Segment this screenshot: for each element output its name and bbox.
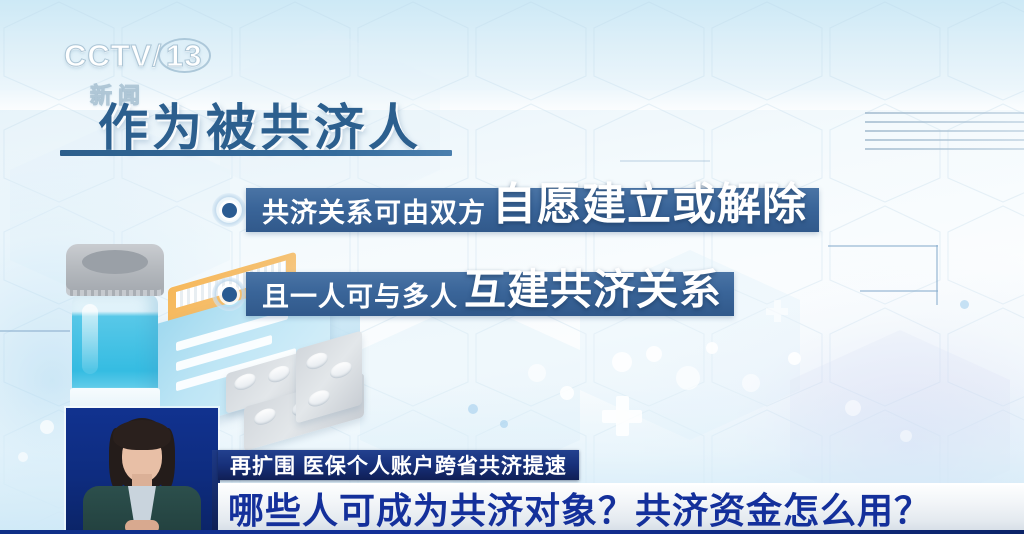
anchor-fringe bbox=[113, 420, 171, 450]
medical-cross-icon bbox=[602, 396, 642, 436]
bullet-bar: 且一人可与多人 互建共济关系 bbox=[246, 272, 734, 316]
bullet-point-2: 且一人可与多人 互建共济关系 bbox=[212, 272, 734, 316]
bokeh-dot bbox=[612, 352, 632, 372]
bokeh-dot bbox=[528, 364, 546, 382]
bullet-marker-icon bbox=[212, 277, 246, 311]
bullet-point-1: 共济关系可由双方 自愿建立或解除 bbox=[212, 188, 819, 232]
page-title-underline bbox=[60, 150, 452, 156]
bullet-emphasis-text: 自愿建立或解除 bbox=[492, 184, 807, 226]
circuit-wire bbox=[936, 245, 938, 305]
pill bbox=[254, 406, 276, 427]
bokeh-dot bbox=[706, 342, 718, 354]
bullet-emphasis-text: 互建共济关系 bbox=[464, 270, 722, 310]
lower-third-bottom-accent bbox=[0, 530, 1024, 534]
vial-cap bbox=[66, 244, 164, 290]
broadcast-frame: CCTV/13 新闻 作为被共济人 bbox=[0, 0, 1024, 534]
medicine-vial-illustration bbox=[52, 244, 178, 424]
pill bbox=[234, 371, 256, 392]
circuit-wire bbox=[860, 290, 938, 292]
bullet-lead-text: 且一人可与多人 bbox=[262, 275, 458, 314]
bullet-bar: 共济关系可由双方 自愿建立或解除 bbox=[246, 188, 819, 232]
bokeh-dot bbox=[676, 366, 700, 390]
anchor-video-inset bbox=[66, 408, 218, 534]
pill bbox=[330, 359, 352, 380]
bokeh-dot bbox=[960, 300, 969, 309]
vial-highlight bbox=[82, 304, 98, 374]
lower-third-headline-bar: 哪些人可成为共济对象？共济资金怎么用？ bbox=[218, 483, 1024, 534]
bullet-marker-icon bbox=[212, 193, 246, 227]
lower-third-topic-text: 再扩围 医保个人账户跨省共济提速 bbox=[230, 450, 567, 480]
lower-third-headline-text: 哪些人可成为共济对象？共济资金怎么用？ bbox=[228, 493, 931, 529]
decorative-rule-lines bbox=[865, 112, 1024, 158]
vial-label bbox=[70, 388, 160, 410]
circuit-wire bbox=[620, 160, 710, 162]
bullet-lead-text: 共济关系可由双方 bbox=[262, 191, 486, 230]
bokeh-dot bbox=[742, 374, 760, 392]
bokeh-dot bbox=[646, 346, 662, 362]
medical-cross-icon bbox=[766, 300, 788, 322]
pill bbox=[268, 363, 290, 384]
bokeh-dot bbox=[788, 352, 801, 365]
lower-third-topic-bar: 再扩围 医保个人账户跨省共济提速 bbox=[218, 450, 579, 480]
bokeh-dot bbox=[500, 420, 508, 428]
bokeh-dot bbox=[18, 452, 28, 462]
circuit-wire bbox=[828, 245, 938, 247]
bokeh-dot bbox=[845, 400, 861, 416]
bokeh-dot bbox=[900, 430, 912, 442]
pill bbox=[308, 388, 330, 409]
bokeh-dot bbox=[468, 404, 478, 414]
pill bbox=[306, 350, 328, 371]
bokeh-dot bbox=[560, 386, 574, 400]
